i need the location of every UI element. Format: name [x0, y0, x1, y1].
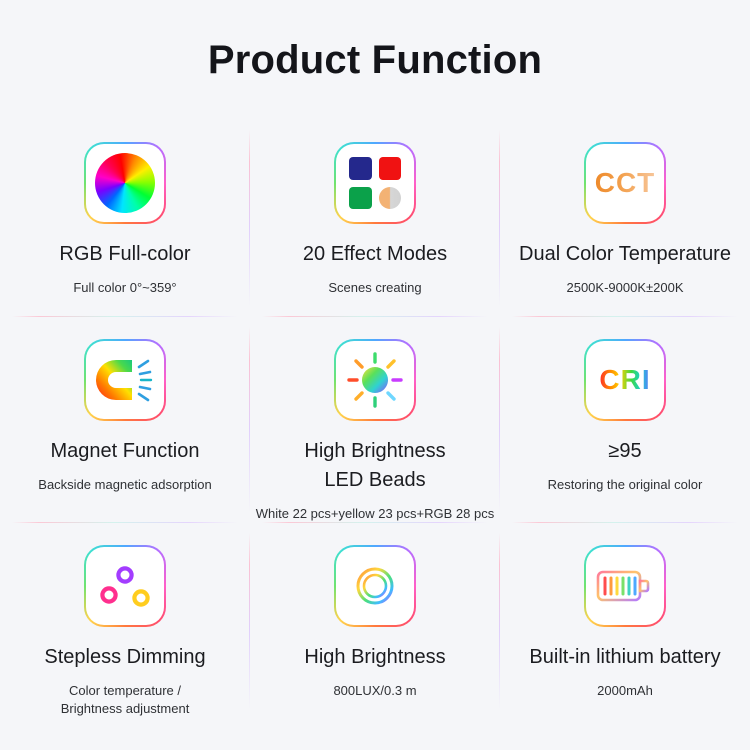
feature-subtitle: White 22 pcs+yellow 23 pcs+RGB 28 pcs [256, 505, 494, 523]
feature-title: Magnet Function [51, 437, 200, 466]
feature-title: High Brightness [304, 643, 445, 672]
feature-title: 20 Effect Modes [303, 240, 447, 269]
cri-icon-label: CRI [599, 364, 650, 396]
feature-cell-cri[interactable]: CRI ≥95 Restoring the original color [500, 317, 750, 523]
feature-subtitle: 2500K-9000K±200K [566, 279, 683, 297]
feature-cell-dual-color-temperature[interactable]: CCT Dual Color Temperature 2500K-9000K±2… [500, 120, 750, 317]
feature-title: High Brightness LED Beads [304, 437, 445, 495]
page-title: Product Function [208, 38, 542, 83]
feature-subtitle: Full color 0°~359° [73, 279, 176, 297]
feature-title: RGB Full-color [59, 240, 190, 269]
feature-grid: RGB Full-color Full color 0°~359° 20 Eff… [0, 120, 750, 720]
cct-icon: CCT [584, 142, 666, 224]
cct-icon-label: CCT [595, 167, 656, 199]
swatch-green [349, 187, 372, 210]
magnet-icon [84, 339, 166, 421]
feature-cell-magnet-function[interactable]: Magnet Function Backside magnetic adsorp… [0, 317, 250, 523]
feature-title: Dual Color Temperature [519, 240, 731, 269]
effect-modes-icon [334, 142, 416, 224]
magnet-glyph [96, 354, 154, 406]
sliders-icon [84, 545, 166, 627]
feature-subtitle: Backside magnetic adsorption [38, 476, 211, 494]
feature-cell-battery[interactable]: Built-in lithium battery 2000mAh [500, 523, 750, 720]
feature-subtitle: Scenes creating [328, 279, 421, 297]
page-header: Product Function [0, 0, 750, 120]
sun-icon [334, 339, 416, 421]
feature-subtitle: Restoring the original color [548, 476, 703, 494]
feature-cell-rgb-full-color[interactable]: RGB Full-color Full color 0°~359° [0, 120, 250, 317]
feature-title: Built-in lithium battery [529, 643, 720, 672]
feature-cell-stepless-dimming[interactable]: Stepless Dimming Color temperature / Bri… [0, 523, 250, 720]
feature-subtitle: 2000mAh [597, 682, 653, 700]
feature-cell-led-beads[interactable]: High Brightness LED Beads White 22 pcs+y… [250, 317, 500, 523]
battery-icon [584, 545, 666, 627]
swatch-red [379, 157, 402, 180]
crosshair-glyph [346, 557, 404, 615]
feature-cell-high-brightness[interactable]: High Brightness 800LUX/0.3 m [250, 523, 500, 720]
feature-subtitle: 800LUX/0.3 m [333, 682, 416, 700]
feature-subtitle: Color temperature / Brightness adjustmen… [61, 682, 190, 718]
cri-icon: CRI [584, 339, 666, 421]
feature-title: Stepless Dimming [44, 643, 205, 672]
swatch-blue [349, 157, 372, 180]
sun-glyph [346, 351, 404, 409]
sliders-glyph [97, 558, 153, 614]
feature-title: ≥95 [608, 437, 641, 466]
color-wheel-icon [84, 142, 166, 224]
feature-cell-effect-modes[interactable]: 20 Effect Modes Scenes creating [250, 120, 500, 317]
crosshair-icon [334, 545, 416, 627]
swatch-bicolor-circle [379, 187, 402, 210]
effect-swatch-grid [349, 157, 401, 209]
color-wheel-disc [95, 153, 155, 213]
battery-glyph [596, 566, 654, 606]
